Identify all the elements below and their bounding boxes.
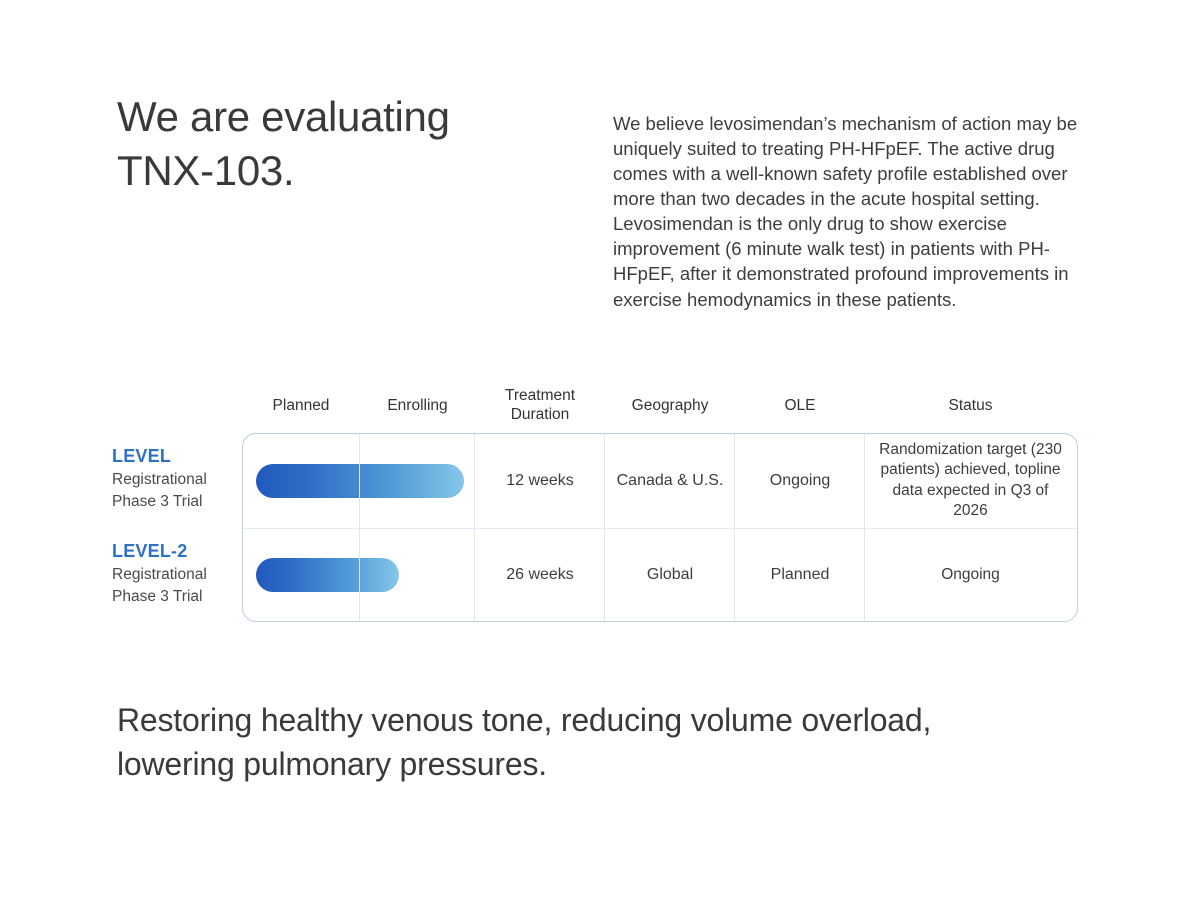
trial-name: LEVEL (112, 446, 228, 467)
table-row-label-level-2: LEVEL-2 Registrational Phase 3 Trial (112, 528, 242, 622)
clinical-trials-table: Planned Enrolling Treatment Duration Geo… (112, 385, 1080, 622)
table-column-divider-3 (604, 434, 605, 621)
table-row-divider (243, 528, 1077, 529)
trial-subtitle-line-1: Registrational (112, 469, 228, 491)
trial-subtitle-line-2: Phase 3 Trial (112, 491, 228, 513)
table-column-divider-1 (359, 434, 360, 621)
cell-ole-level: Ongoing (735, 433, 865, 528)
footer-tagline: Restoring healthy venous tone, reducing … (117, 698, 1097, 786)
page-title-line-2: TNX-103. (117, 144, 587, 198)
column-header-blank (112, 385, 242, 433)
cell-treatment-duration-level-2: 26 weeks (475, 528, 605, 622)
page-title: We are evaluating TNX-103. (117, 90, 587, 198)
table-column-divider-2 (474, 434, 475, 621)
table-row-label-level: LEVEL Registrational Phase 3 Trial (112, 433, 242, 528)
cell-status-level: Randomization target (230 patients) achi… (865, 433, 1076, 528)
progress-bar (256, 464, 464, 498)
cell-ole-level-2: Planned (735, 528, 865, 622)
table-column-divider-4 (734, 434, 735, 621)
column-header-status: Status (865, 385, 1076, 433)
page-title-line-1: We are evaluating (117, 90, 587, 144)
footer-tagline-line-1: Restoring healthy venous tone, reducing … (117, 698, 1097, 742)
column-header-treatment-duration: Treatment Duration (475, 385, 605, 433)
cell-geography-level-2: Global (605, 528, 735, 622)
trials-grid: Planned Enrolling Treatment Duration Geo… (112, 385, 1080, 622)
trial-subtitle-line-2: Phase 3 Trial (112, 586, 228, 608)
trial-subtitle-line-1: Registrational (112, 564, 228, 586)
cell-geography-level: Canada & U.S. (605, 433, 735, 528)
column-header-geography: Geography (605, 385, 735, 433)
cell-treatment-duration-level: 12 weeks (475, 433, 605, 528)
table-column-divider-5 (864, 434, 865, 621)
progress-bar (256, 558, 399, 592)
column-header-planned: Planned (242, 385, 360, 433)
footer-tagline-line-2: lowering pulmonary pressures. (117, 742, 1097, 786)
trial-name: LEVEL-2 (112, 541, 228, 562)
column-header-ole: OLE (735, 385, 865, 433)
body-paragraph: We believe levosimendan’s mechanism of a… (613, 111, 1081, 312)
cell-status-level-2: Ongoing (865, 528, 1076, 622)
column-header-enrolling: Enrolling (360, 385, 475, 433)
